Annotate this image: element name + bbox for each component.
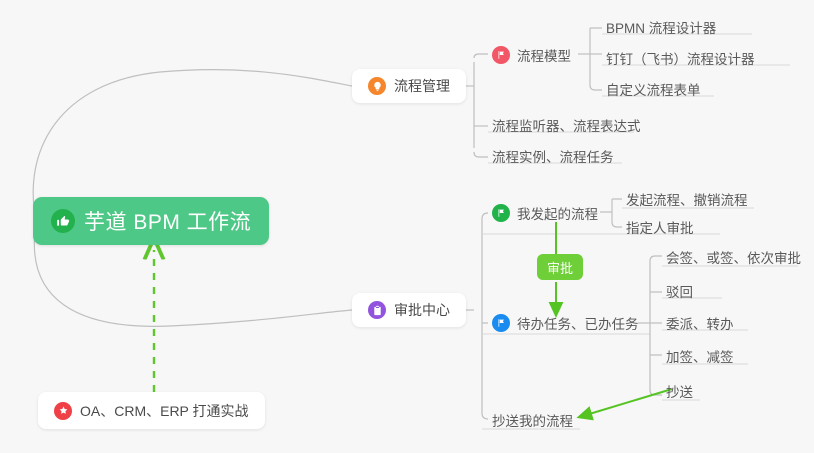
arrow-cc-to-ccme	[586, 389, 672, 415]
node-label: 驳回	[666, 281, 693, 301]
star-icon	[54, 402, 72, 420]
node-label: 流程模型	[517, 45, 571, 65]
root-node[interactable]: 芋道 BPM 工作流	[33, 197, 269, 245]
node-label: 自定义流程表单	[606, 79, 701, 99]
edge-mi-c2	[612, 222, 622, 227]
node-assignee-approval[interactable]: 指定人审批	[622, 213, 700, 241]
node-label: 流程监听器、流程表达式	[492, 115, 641, 135]
branch-process-management[interactable]: 流程管理	[352, 69, 466, 103]
node-label: 待办任务、已办任务	[517, 313, 639, 333]
integration-note-label: OA、CRM、ERP 打通实战	[80, 401, 249, 421]
branch-label: 审批中心	[394, 300, 450, 320]
approval-tag[interactable]: 审批	[537, 254, 583, 280]
node-label: 加签、减签	[666, 346, 734, 366]
edge-todo-c5	[650, 390, 662, 395]
node-listener-expression[interactable]: 流程监听器、流程表达式	[488, 111, 647, 139]
node-label: 抄送我的流程	[492, 410, 573, 430]
branch-label: 流程管理	[394, 76, 450, 96]
node-dingtalk-feishu-designer[interactable]: 钉钉（飞书）流程设计器	[602, 44, 761, 72]
node-add-remove-sign[interactable]: 加签、减签	[662, 342, 740, 370]
node-reject[interactable]: 驳回	[662, 277, 699, 305]
node-instance-task[interactable]: 流程实例、流程任务	[488, 142, 620, 170]
node-my-initiated[interactable]: 我发起的流程	[488, 199, 604, 227]
node-label: 流程实例、流程任务	[492, 146, 614, 166]
node-countersign[interactable]: 会签、或签、依次审批	[662, 243, 807, 271]
root-label: 芋道 BPM 工作流	[84, 206, 251, 236]
edge-pm-c3	[474, 152, 488, 157]
node-label: 指定人审批	[626, 217, 694, 237]
edge-pmodel-c3	[590, 85, 602, 90]
approval-tag-label: 审批	[547, 258, 573, 277]
node-todo-done-tasks[interactable]: 待办任务、已办任务	[488, 309, 645, 337]
node-label: 我发起的流程	[517, 203, 598, 223]
node-delegate-transfer[interactable]: 委派、转办	[662, 309, 740, 337]
lightbulb-icon	[368, 77, 386, 95]
thumbs-up-icon	[51, 209, 75, 233]
node-start-cancel[interactable]: 发起流程、撤销流程	[622, 185, 754, 213]
node-process-model[interactable]: 流程模型	[488, 41, 577, 69]
flag-red-icon	[492, 46, 510, 64]
node-cc-to-me[interactable]: 抄送我的流程	[488, 406, 579, 434]
node-label: 委派、转办	[666, 313, 734, 333]
clipboard-icon	[368, 301, 386, 319]
node-custom-process-form[interactable]: 自定义流程表单	[602, 75, 707, 103]
integration-note[interactable]: OA、CRM、ERP 打通实战	[38, 392, 265, 429]
edge-todo-c1	[650, 256, 662, 261]
mindmap-canvas: 芋道 BPM 工作流 流程管理 流程模型 BPMN 流程设计器 钉钉（飞书）流程…	[0, 0, 814, 453]
flag-green-icon	[492, 204, 510, 222]
node-label: BPMN 流程设计器	[606, 17, 716, 37]
edge-pm-c1	[474, 54, 488, 58]
node-label: 发起流程、撤销流程	[626, 189, 748, 209]
node-cc[interactable]: 抄送	[662, 377, 699, 405]
flag-blue-icon	[492, 314, 510, 332]
node-label: 钉钉（飞书）流程设计器	[606, 48, 755, 68]
branch-approval-center[interactable]: 审批中心	[352, 293, 466, 327]
node-label: 抄送	[666, 381, 693, 401]
node-label: 会签、或签、依次审批	[666, 247, 801, 267]
node-bpmn-designer[interactable]: BPMN 流程设计器	[602, 13, 722, 41]
